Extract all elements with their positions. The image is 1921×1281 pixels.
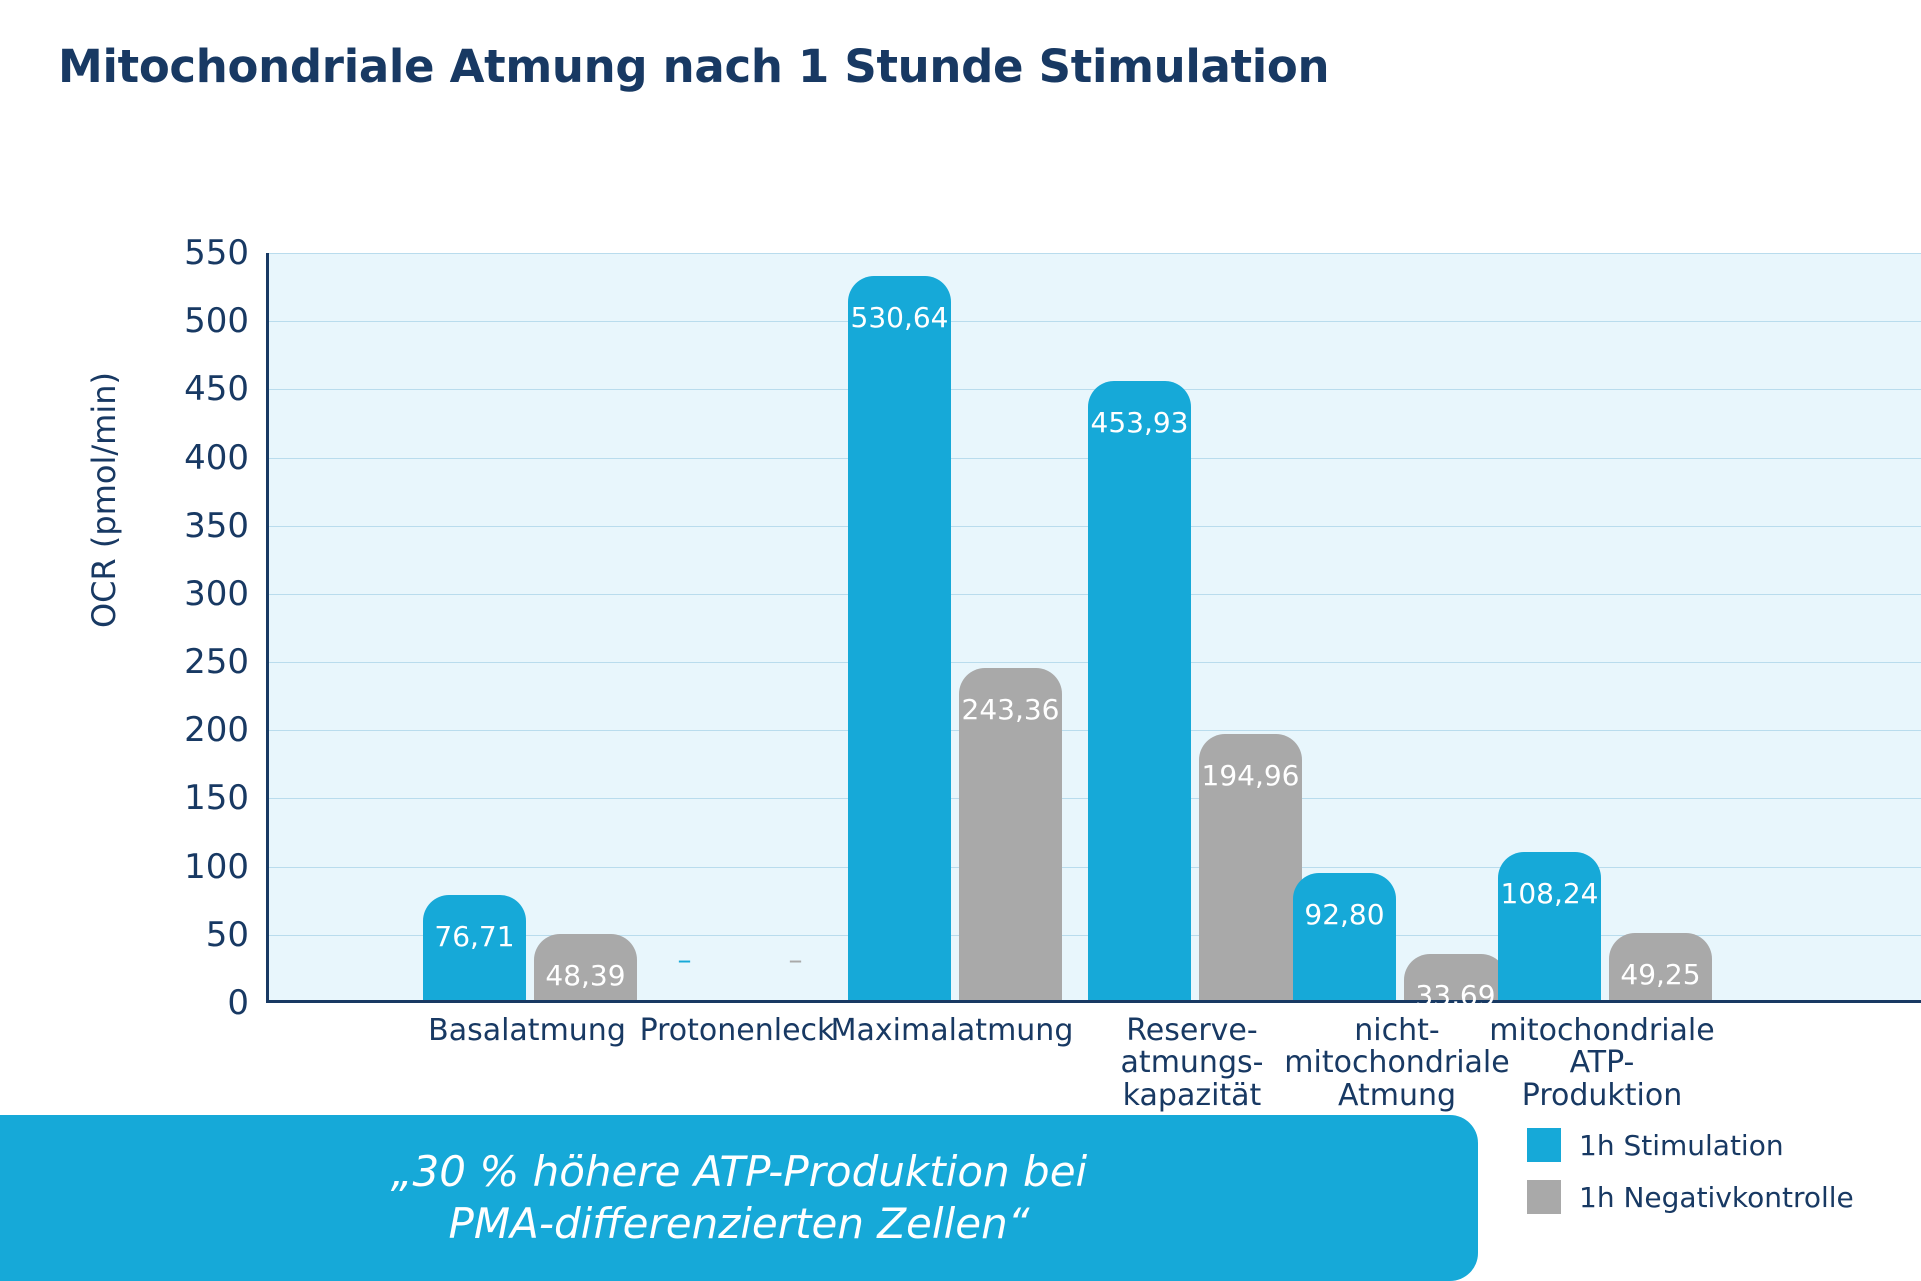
bar-value-label: 243,36 (939, 693, 1082, 726)
quote-banner: „30 % höhere ATP-Produktion bei PMA-diff… (0, 1115, 1478, 1281)
legend-item-series-a: 1h Stimulation (1527, 1128, 1854, 1162)
y-tick-label: 150 (129, 778, 249, 818)
bar (848, 276, 951, 1000)
quote-text: „30 % höhere ATP-Produktion bei PMA-diff… (391, 1146, 1087, 1251)
bar-value-label: 49,25 (1589, 958, 1732, 991)
x-axis-category-label: mitochondrialeATP-Produktion (1442, 1015, 1762, 1112)
legend-label-series-a: 1h Stimulation (1579, 1129, 1784, 1162)
legend-label-series-b: 1h Negativkontrolle (1579, 1181, 1854, 1214)
bar-value-label: 530,64 (828, 301, 971, 334)
y-tick-label: 500 (129, 301, 249, 341)
y-tick-label: 50 (129, 915, 249, 955)
chart-plot-area: 76,7148,39––530,64243,36453,93194,9692,8… (266, 253, 1921, 1003)
legend-swatch-series-b (1527, 1180, 1561, 1214)
y-tick-label: 550 (129, 233, 249, 273)
chart-legend: 1h Stimulation 1h Negativkontrolle (1527, 1128, 1854, 1232)
y-tick-label: 0 (129, 983, 249, 1023)
bar (1498, 852, 1601, 1000)
y-axis-title: OCR (pmol/min) (85, 372, 123, 628)
y-tick-label: 300 (129, 574, 249, 614)
legend-item-series-b: 1h Negativkontrolle (1527, 1180, 1854, 1214)
legend-swatch-series-a (1527, 1128, 1561, 1162)
bar-value-label: 76,71 (403, 920, 546, 953)
bar (1293, 873, 1396, 1000)
bar-value-label: – (724, 943, 867, 976)
y-tick-label: 350 (129, 506, 249, 546)
bar-value-label: 108,24 (1478, 877, 1621, 910)
y-tick-label: 200 (129, 710, 249, 750)
y-tick-label: 100 (129, 847, 249, 887)
page-title: Mitochondriale Atmung nach 1 Stunde Stim… (58, 40, 1329, 93)
y-tick-label: 450 (129, 369, 249, 409)
bar (1088, 381, 1191, 1000)
gridline (269, 253, 1921, 254)
y-tick-label: 250 (129, 642, 249, 682)
bar-value-label: 92,80 (1273, 898, 1416, 931)
bar-value-label: 453,93 (1068, 406, 1211, 439)
bar-value-label: 194,96 (1179, 759, 1322, 792)
gridline (269, 321, 1921, 322)
y-tick-label: 400 (129, 438, 249, 478)
chart-plot-wrapper: 76,7148,39––530,64243,36453,93194,9692,8… (266, 253, 1921, 1003)
